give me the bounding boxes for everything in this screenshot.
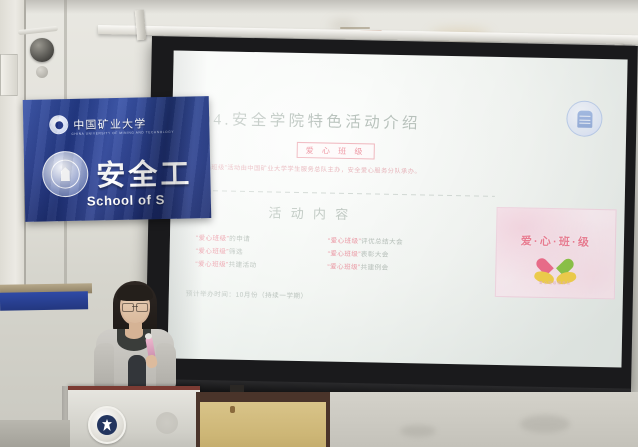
banner-school-name: 安全工 xyxy=(96,150,193,194)
list-item-keyword: “爱心班级” xyxy=(195,261,228,269)
emblem-glyph xyxy=(102,419,112,431)
student-presenter xyxy=(84,281,200,391)
slide-intro-text: “爱心班级”活动由中国矿业大学学生服务总队主办，安全爱心服务分队承办。 xyxy=(195,163,495,179)
slide-title: 04.安全学院特色活动介绍 xyxy=(202,107,421,133)
podium-speaker-grille xyxy=(156,412,178,434)
slide-divider xyxy=(195,190,495,197)
slide-footnote: 预计举办时间：10月份（持续一学期） xyxy=(186,288,308,300)
list-item-text: 共建活动 xyxy=(229,262,257,270)
banner-school-name-en: School of S xyxy=(87,192,165,209)
slide-list-right: “爱心班级”评优总结大会 “爱心班级”表彰大会 “爱心班级”共建例会 xyxy=(327,235,403,276)
banner-university-name-en: CHINA UNIVERSITY OF MINING AND TECHNOLOG… xyxy=(71,130,174,136)
university-watermark-icon xyxy=(566,100,603,137)
lower-wall xyxy=(322,392,638,447)
list-item-text: 的申请 xyxy=(229,236,250,243)
heart-hands-icon xyxy=(535,255,576,284)
wall-smudge xyxy=(520,415,570,433)
projection-screen: 04.安全学院特色活动介绍 爱 心 班 级 “爱心班级”活动由中国矿业大学学生服… xyxy=(145,36,638,394)
photo-card-caption: 爱心班级服务队 xyxy=(496,280,614,287)
slide-section-heading: 活 动 内 容 xyxy=(268,202,351,223)
list-item: “爱心班级”共建活动 xyxy=(195,258,256,272)
cabinet-knob xyxy=(230,406,235,413)
department-banner: 中国矿业大学 CHINA UNIVERSITY OF MINING AND TE… xyxy=(23,96,212,222)
projection-screen-surface: 04.安全学院特色活动介绍 爱 心 班 级 “爱心班级”活动由中国矿业大学学生服… xyxy=(168,50,628,367)
list-item-keyword: “爱心班级” xyxy=(196,248,229,256)
presenter-fringe xyxy=(117,285,153,301)
wall-smudge xyxy=(400,425,436,437)
ceiling-shadow xyxy=(0,0,638,14)
list-item-keyword: “爱心班级” xyxy=(196,235,229,243)
list-item-text: 表彰大会 xyxy=(361,251,389,259)
glasses-icon xyxy=(122,303,148,310)
presentation-slide: 04.安全学院特色活动介绍 爱 心 班 级 “爱心班级”活动由中国矿业大学学生服… xyxy=(168,50,628,367)
watermark-glyph xyxy=(577,110,592,127)
classroom-scene: 04.安全学院特色活动介绍 爱 心 班 级 “爱心班级”活动由中国矿业大学学生服… xyxy=(0,0,638,447)
list-item-text: 共建例会 xyxy=(360,264,388,272)
list-item: “爱心班级”筛选 xyxy=(196,245,257,259)
photo-card-title: 爱·心·班·级 xyxy=(497,232,615,250)
wooden-cabinet xyxy=(196,392,330,447)
floor-strip xyxy=(0,420,70,447)
photo-card: 爱·心·班·级 爱心班级服务队 xyxy=(495,207,617,299)
list-item: “爱心班级”的申请 xyxy=(196,232,257,246)
banner-lower-strip xyxy=(0,291,88,311)
banner-school-row: 安全工 xyxy=(42,148,193,197)
presenter-neckline xyxy=(125,329,143,339)
wall-fitting-icon xyxy=(36,66,48,78)
list-item-text: 筛选 xyxy=(229,249,243,256)
school-seal-icon xyxy=(42,151,89,198)
university-seal-icon xyxy=(49,115,68,134)
wall-scuff xyxy=(340,27,370,29)
list-item-text: 评优总结大会 xyxy=(361,238,403,246)
university-emblem-icon xyxy=(88,406,126,444)
list-item-keyword: “爱心班级” xyxy=(327,264,360,272)
wall-pillar xyxy=(0,0,26,300)
list-item-keyword: “爱心班级” xyxy=(328,238,361,246)
slide-badge: 爱 心 班 级 xyxy=(297,142,375,160)
list-item: “爱心班级”共建例会 xyxy=(327,261,402,276)
lectern-podium xyxy=(68,386,200,447)
slide-list-left: “爱心班级”的申请 “爱心班级”筛选 “爱心班级”共建活动 xyxy=(195,232,257,272)
presenter-arm-left xyxy=(94,343,114,391)
wall-mounted-box xyxy=(0,54,18,96)
list-item-keyword: “爱心班级” xyxy=(328,251,361,259)
presenter-arm-right xyxy=(156,343,176,391)
wall-sensor-icon xyxy=(30,38,54,62)
heart-shape xyxy=(544,255,566,274)
